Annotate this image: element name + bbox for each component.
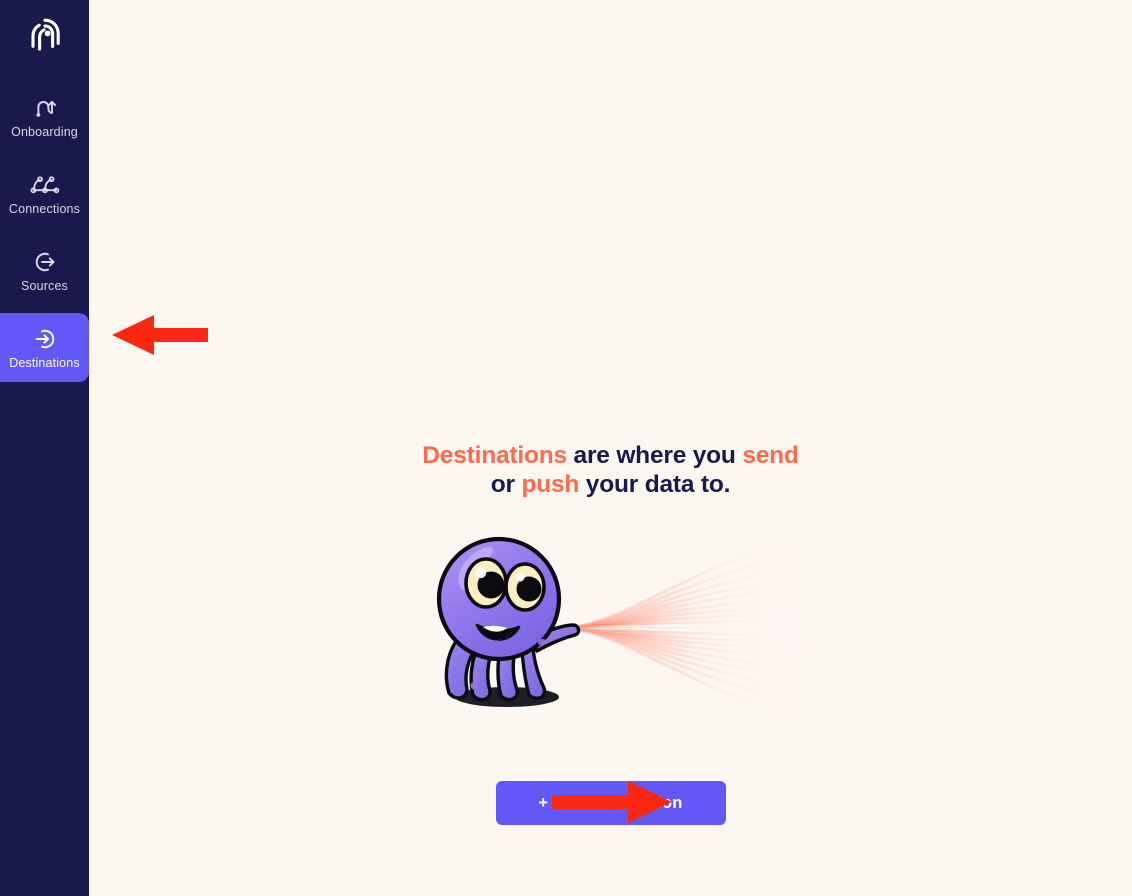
- octavia-octopus-illustration: [421, 521, 801, 736]
- circle-arrow-in-icon: [32, 326, 58, 352]
- new-destination-button[interactable]: + New destination: [496, 781, 726, 825]
- headline-text-2: or: [491, 471, 522, 498]
- page-headline: Destinations are where you send or push …: [422, 441, 798, 499]
- sidebar-item-label: Sources: [21, 280, 68, 293]
- main-content: Destinations are where you send or push …: [89, 0, 1132, 896]
- sidebar-item-connections[interactable]: Connections: [0, 159, 89, 229]
- connections-nodes-icon: [29, 172, 61, 198]
- sidebar-item-label: Connections: [9, 203, 80, 216]
- airbyte-logo-icon: [25, 16, 65, 58]
- headline-text-1: are where you: [567, 442, 742, 469]
- onboarding-path-icon: [32, 95, 58, 121]
- cta-row: + New destination: [89, 781, 1132, 825]
- sidebar-item-destinations[interactable]: Destinations: [0, 313, 89, 382]
- sidebar-item-label: Onboarding: [11, 126, 78, 139]
- headline-line-2: or push your data to.: [491, 471, 730, 498]
- headline-word-send: send: [742, 442, 798, 469]
- circle-arrow-out-icon: [32, 249, 58, 275]
- app-root: Onboarding: [0, 0, 1132, 896]
- sidebar-nav-list: Onboarding: [0, 82, 89, 382]
- sidebar-item-onboarding[interactable]: Onboarding: [0, 82, 89, 152]
- sidebar-item-sources[interactable]: Sources: [0, 236, 89, 306]
- headline-word-destinations: Destinations: [422, 442, 567, 469]
- app-logo[interactable]: [0, 0, 89, 74]
- sidebar: Onboarding: [0, 0, 89, 896]
- headline-word-push: push: [521, 471, 579, 498]
- sidebar-item-label: Destinations: [9, 357, 80, 370]
- headline-line-1: Destinations are where you send: [422, 442, 798, 469]
- headline-text-3: your data to.: [579, 471, 730, 498]
- destinations-empty-state: Destinations are where you send or push …: [89, 0, 1132, 825]
